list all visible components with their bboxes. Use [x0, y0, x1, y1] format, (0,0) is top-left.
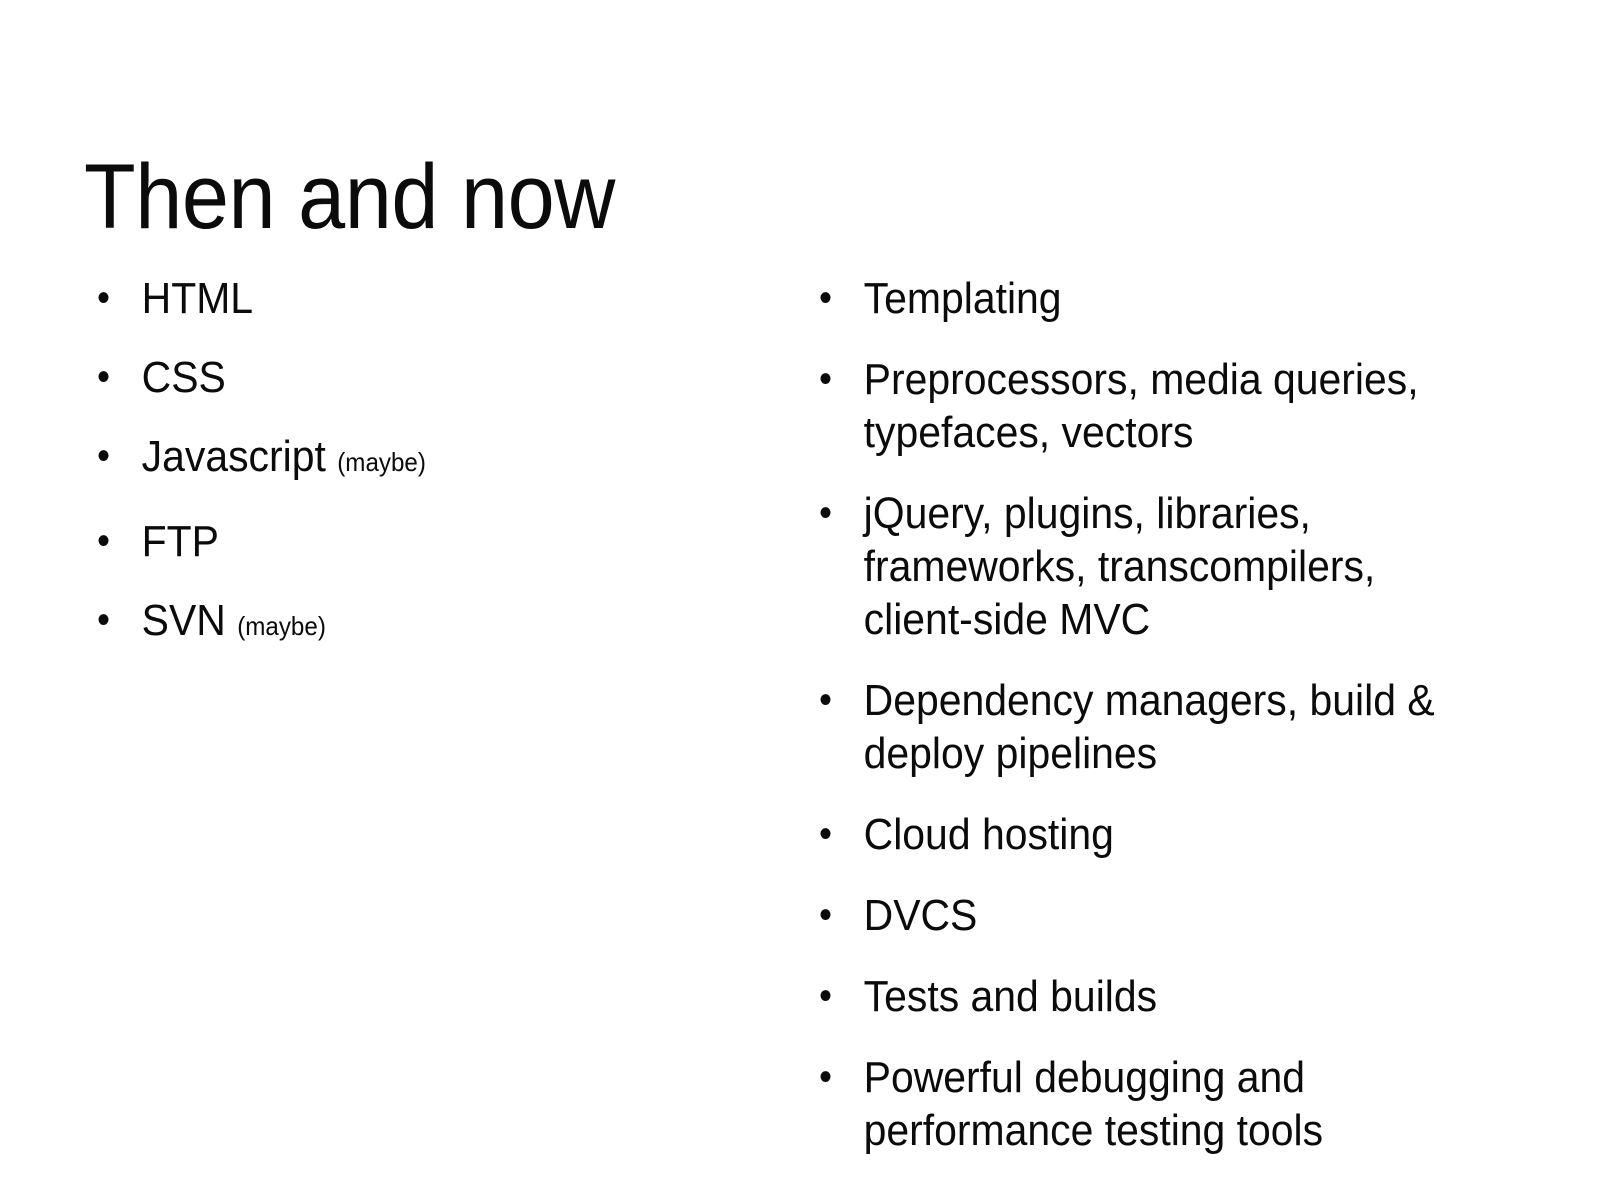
- list-item-label: jQuery, plugins, libraries, frameworks, …: [864, 489, 1376, 644]
- list-item-label: Javascript: [142, 432, 326, 481]
- list-item-label: CSS: [142, 353, 226, 402]
- list-item: HTML: [84, 272, 698, 325]
- list-item-note: (maybe): [237, 611, 326, 641]
- bullet-column-now: TemplatingPreprocessors, media queries, …: [806, 272, 1506, 1157]
- list-item: Tests and builds: [806, 970, 1457, 1023]
- list-item: SVN (maybe): [84, 594, 698, 653]
- list-item-label: HTML: [142, 274, 253, 323]
- list-item-label: Powerful debugging and performance testi…: [864, 1053, 1323, 1155]
- list-item-label: Cloud hosting: [864, 810, 1114, 859]
- slide-body: HTMLCSSJavascript (maybe)FTPSVN (maybe) …: [0, 0, 1600, 1200]
- list-item: Preprocessors, media queries, typefaces,…: [806, 353, 1457, 459]
- list-item-label: Templating: [864, 274, 1062, 323]
- list-item: jQuery, plugins, libraries, frameworks, …: [806, 487, 1457, 646]
- bullet-list-then: HTMLCSSJavascript (maybe)FTPSVN (maybe): [84, 272, 744, 653]
- list-item: Dependency managers, build & deploy pipe…: [806, 674, 1457, 780]
- list-item: DVCS: [806, 889, 1457, 942]
- list-item: FTP: [84, 515, 698, 568]
- list-item-label: SVN: [142, 596, 226, 645]
- list-item-label: Preprocessors, media queries, typefaces,…: [864, 355, 1419, 457]
- list-item: CSS: [84, 351, 698, 404]
- list-item: Javascript (maybe): [84, 430, 698, 489]
- list-item-label: DVCS: [864, 891, 978, 940]
- bullet-list-now: TemplatingPreprocessors, media queries, …: [806, 272, 1506, 1157]
- list-item-label: Dependency managers, build & deploy pipe…: [864, 676, 1435, 778]
- list-item-note: (maybe): [337, 447, 426, 477]
- list-item: Templating: [806, 272, 1457, 325]
- bullet-column-then: HTMLCSSJavascript (maybe)FTPSVN (maybe): [84, 272, 744, 653]
- list-item: Cloud hosting: [806, 808, 1457, 861]
- slide: Then and now HTMLCSSJavascript (maybe)FT…: [0, 0, 1600, 1200]
- list-item-label: FTP: [142, 517, 219, 566]
- list-item: Powerful debugging and performance testi…: [806, 1051, 1457, 1157]
- list-item-label: Tests and builds: [864, 972, 1157, 1021]
